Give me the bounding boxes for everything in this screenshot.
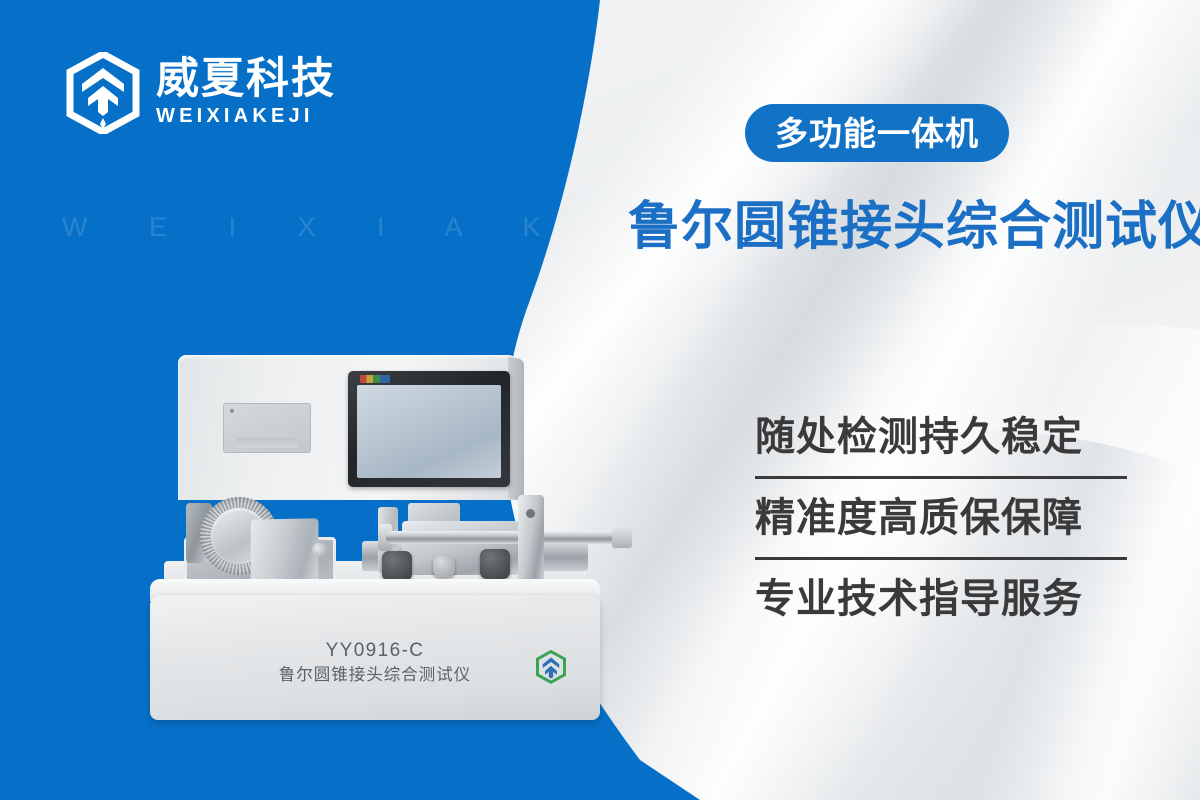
machine-access-plate xyxy=(223,403,311,453)
feature-item-label: 专业技术指导服务 xyxy=(755,579,1083,619)
adjust-knob-left[interactable] xyxy=(382,551,412,581)
brand-logo-text: 威夏科技 WEIXIAKEJI xyxy=(156,57,336,129)
machine-plate-screw xyxy=(230,409,234,413)
shaft-tip xyxy=(612,527,632,548)
adjust-knob-center[interactable] xyxy=(433,555,455,577)
weixia-green-hexagon-logo-icon xyxy=(530,650,572,686)
feature-item: 随处检测持久稳定 xyxy=(755,398,1127,476)
adjust-knob-right[interactable] xyxy=(480,549,510,579)
hmi-touchscreen[interactable] xyxy=(348,371,510,487)
brand-logo: 威夏科技 WEIXIAKEJI xyxy=(66,52,336,134)
hmi-screen-surface[interactable] xyxy=(357,385,501,478)
machine-base: YY0916-C 鲁尔圆锥接头综合测试仪 xyxy=(150,595,600,720)
feature-item: 精准度高质保保障 xyxy=(755,479,1127,557)
feature-item: 专业技术指导服务 xyxy=(755,560,1127,638)
hexagon-shield-icon xyxy=(66,52,140,134)
product-banner: W E I X I A K E J I 威夏科技 WEIXIAKEJI 多功能一… xyxy=(0,0,1200,800)
brand-name-cn: 威夏科技 xyxy=(156,57,336,102)
machine-upper-side xyxy=(508,357,524,502)
product-photo: YY0916-C 鲁尔圆锥接头综合测试仪 xyxy=(150,355,660,765)
feature-badge: 多功能一体机 xyxy=(745,104,1009,162)
feature-list: 随处检测持久稳定 精准度高质保保障 专业技术指导服务 xyxy=(755,398,1127,638)
page-title: 鲁尔圆锥接头综合测试仪 xyxy=(628,198,1200,258)
hmi-brand-stripe-icon xyxy=(360,375,390,383)
feature-item-label: 精准度高质保保障 xyxy=(755,498,1083,538)
clamp-hole xyxy=(526,509,535,518)
feature-item-label: 随处检测持久稳定 xyxy=(755,417,1083,457)
machine-brand-logo xyxy=(530,650,572,698)
brand-name-en: WEIXIAKEJI xyxy=(156,103,336,129)
test-shaft xyxy=(386,531,626,544)
feature-badge-label: 多功能一体机 xyxy=(775,117,979,150)
